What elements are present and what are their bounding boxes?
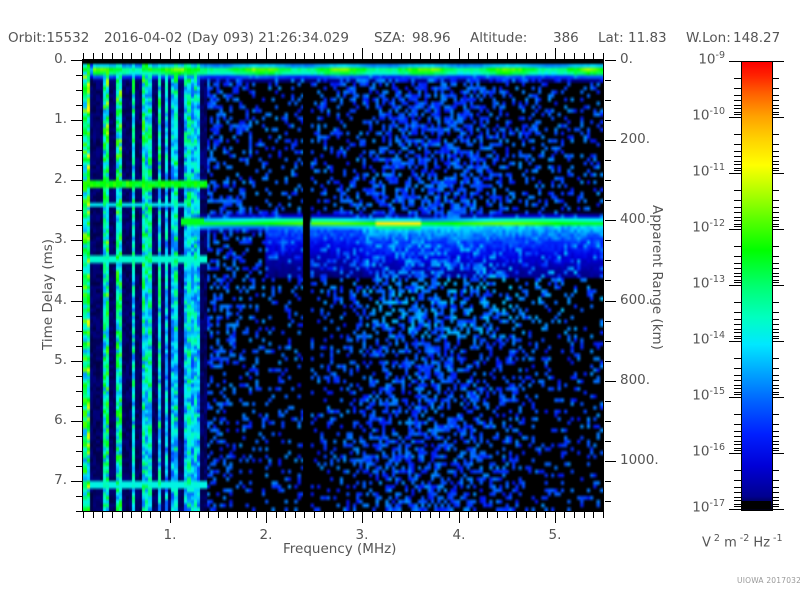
colorbar-minor-tick-left <box>734 256 741 257</box>
y-major-tick <box>71 180 82 181</box>
y-tick-label: 4. <box>54 292 67 308</box>
header-wlon-value: 148.27 <box>733 30 780 46</box>
colorbar-minor-tick-right <box>772 414 779 415</box>
colorbar-minor-tick-right <box>772 336 779 337</box>
x-major-tick-top <box>459 48 460 59</box>
y-tick-label: 0. <box>54 51 67 67</box>
x-minor-tick <box>526 512 527 518</box>
y2-minor-tick <box>605 481 611 482</box>
x-minor-tick <box>420 512 421 518</box>
colorbar-minor-tick-left <box>734 263 741 264</box>
colorbar-minor-tick-left <box>734 200 741 201</box>
colorbar-minor-tick-left <box>734 114 741 115</box>
y2-tick-label: 800. <box>620 372 650 388</box>
colorbar-minor-tick-left <box>734 375 741 376</box>
colorbar-minor-tick-left <box>734 112 741 113</box>
x-tick-label: 5. <box>549 527 562 543</box>
colorbar-minor-tick-right <box>772 368 779 369</box>
y2-major-tick <box>605 220 616 221</box>
colorbar-minor-tick-left <box>734 78 741 79</box>
colorbar-minor-tick-left <box>734 431 741 432</box>
x-minor-tick <box>401 512 402 518</box>
colorbar-minor-tick-right <box>772 380 779 381</box>
colorbar-minor-tick-right <box>772 500 779 501</box>
x-minor-tick <box>102 512 103 518</box>
x-minor-tick <box>218 512 219 518</box>
y2-major-tick <box>605 301 616 302</box>
x-minor-tick <box>179 512 180 518</box>
x-minor-tick <box>536 512 537 518</box>
colorbar-minor-tick-right <box>772 375 779 376</box>
colorbar-minor-tick-left <box>734 392 741 393</box>
y2-minor-tick <box>605 501 611 502</box>
colorbar-minor-tick-left <box>734 380 741 381</box>
colorbar-minor-tick-left <box>734 394 741 395</box>
y2-major-tick <box>605 140 616 141</box>
x-major-tick-top <box>555 48 556 59</box>
colorbar-minor-tick-left <box>734 276 741 277</box>
x-tick-label: 2. <box>260 527 273 543</box>
colorbar-minor-tick-left <box>734 448 741 449</box>
colorbar-minor-tick-right <box>772 448 779 449</box>
x-minor-tick <box>468 512 469 518</box>
colorbar-minor-tick-right <box>772 394 779 395</box>
colorbar-minor-tick-right <box>772 444 779 445</box>
colorbar-minor-tick-right <box>772 480 779 481</box>
colorbar-minor-tick-right <box>772 134 779 135</box>
header-sza-label: SZA: <box>374 30 405 46</box>
colorbar-minor-tick-left <box>734 504 741 505</box>
y-tick-label: 5. <box>54 352 67 368</box>
x-minor-tick <box>189 512 190 518</box>
colorbar-minor-tick-left <box>734 368 741 369</box>
y2-tick-label: 600. <box>620 292 650 308</box>
y2-tick-label: 400. <box>620 211 650 227</box>
x-minor-tick <box>545 512 546 518</box>
colorbar-minor-tick-left <box>734 224 741 225</box>
colorbar-minor-tick-right <box>772 358 779 359</box>
colorbar-minor-tick-right <box>772 506 779 507</box>
colorbar-minor-tick-left <box>734 500 741 501</box>
colorbar-minor-tick-right <box>772 114 779 115</box>
colorbar-minor-tick-left <box>734 332 741 333</box>
radargram-heatmap <box>83 60 603 511</box>
colorbar-minor-tick-right <box>772 112 779 113</box>
colorbar-minor-tick-right <box>772 226 779 227</box>
colorbar-minor-tick-right <box>772 312 779 313</box>
x-major-tick <box>266 512 267 523</box>
colorbar-minor-tick-right <box>772 190 779 191</box>
y2-major-tick <box>605 60 616 61</box>
header-orbit: Orbit:15532 <box>8 30 89 46</box>
colorbar-major-tick-left <box>729 173 741 174</box>
colorbar-minor-tick-left <box>734 168 741 169</box>
colorbar-minor-tick-left <box>734 88 741 89</box>
colorbar-minor-tick-left <box>734 100 741 101</box>
colorbar-major-tick-right <box>772 509 784 510</box>
colorbar-minor-tick-left <box>734 450 741 451</box>
header-lat-label: Lat: <box>598 30 624 46</box>
colorbar-minor-tick-right <box>772 497 779 498</box>
colorbar-minor-tick-left <box>734 470 741 471</box>
colorbar-minor-tick-right <box>772 504 779 505</box>
colorbar-minor-tick-right <box>772 492 779 493</box>
x-minor-tick <box>112 512 113 518</box>
y2-minor-tick <box>605 441 611 442</box>
colorbar-minor-tick-left <box>734 312 741 313</box>
colorbar-minor-tick-left <box>734 414 741 415</box>
y2-tick-label: 200. <box>620 131 650 147</box>
colorbar-minor-tick-left <box>734 151 741 152</box>
x-minor-tick <box>141 512 142 518</box>
y-tick-label: 2. <box>54 171 67 187</box>
y2-minor-tick <box>605 341 611 342</box>
x-tick-label: 4. <box>453 527 466 543</box>
colorbar-major-tick-right <box>772 285 784 286</box>
colorbar-major-tick-left <box>729 285 741 286</box>
x-minor-tick <box>497 512 498 518</box>
x-tick-label: 1. <box>164 527 177 543</box>
y2-minor-tick <box>605 120 611 121</box>
colorbar-minor-tick-right <box>772 268 779 269</box>
colorbar-minor-tick-left <box>734 358 741 359</box>
colorbar-minor-tick-right <box>772 168 779 169</box>
x-minor-tick <box>584 512 585 518</box>
colorbar-minor-tick-right <box>772 256 779 257</box>
colorbar-minor-tick-right <box>772 105 779 106</box>
x-minor-tick <box>410 512 411 518</box>
colorbar-minor-tick-right <box>772 392 779 393</box>
colorbar-minor-tick-right <box>772 164 779 165</box>
colorbar-minor-tick-left <box>734 480 741 481</box>
colorbar-minor-tick-right <box>772 329 779 330</box>
colorbar-minor-tick-left <box>734 444 741 445</box>
colorbar-minor-tick-left <box>734 134 741 135</box>
y-tick-label: 6. <box>54 412 67 428</box>
colorbar-minor-tick-left <box>734 282 741 283</box>
colorbar-minor-tick-left <box>734 217 741 218</box>
colorbar-minor-tick-right <box>772 450 779 451</box>
x-minor-tick <box>256 512 257 518</box>
x-minor-tick <box>199 512 200 518</box>
colorbar-minor-tick-right <box>772 441 779 442</box>
colorbar-minor-tick-right <box>772 212 779 213</box>
x-minor-tick <box>150 512 151 518</box>
colorbar-tick-label: 10-16 <box>692 442 725 460</box>
y-major-tick <box>71 421 82 422</box>
y2-major-tick <box>605 461 616 462</box>
colorbar-minor-tick-left <box>734 105 741 106</box>
colorbar-minor-tick-left <box>734 170 741 171</box>
x-minor-tick <box>564 512 565 518</box>
colorbar-minor-tick-right <box>772 431 779 432</box>
x-minor-tick <box>353 512 354 518</box>
colorbar-minor-tick-left <box>734 95 741 96</box>
colorbar-major-tick-right <box>772 117 784 118</box>
x-major-tick-top <box>266 48 267 59</box>
colorbar-minor-tick-left <box>734 164 741 165</box>
y2-minor-tick <box>605 280 611 281</box>
y2-minor-tick <box>605 160 611 161</box>
colorbar-major-tick-right <box>772 61 784 62</box>
x-major-tick <box>362 512 363 523</box>
colorbar-minor-tick-left <box>734 329 741 330</box>
colorbar-minor-tick-left <box>734 441 741 442</box>
colorbar-minor-tick-left <box>734 436 741 437</box>
colorbar-min-cap <box>742 501 771 509</box>
colorbar-minor-tick-right <box>772 200 779 201</box>
x-minor-tick <box>449 512 450 518</box>
colorbar-minor-tick-right <box>772 217 779 218</box>
y2-minor-tick <box>605 100 611 101</box>
colorbar-minor-tick-right <box>772 487 779 488</box>
colorbar-minor-tick-left <box>734 385 741 386</box>
colorbar-minor-tick-right <box>772 263 779 264</box>
colorbar-minor-tick-right <box>772 470 779 471</box>
y-major-tick <box>71 481 82 482</box>
colorbar-minor-tick-right <box>772 385 779 386</box>
x-minor-tick <box>372 512 373 518</box>
x-minor-tick <box>333 512 334 518</box>
colorbar-minor-tick-left <box>734 497 741 498</box>
colorbar-tick-label: 10-12 <box>692 218 725 236</box>
colorbar-major-tick-left <box>729 453 741 454</box>
y2-axis-title-apparent-range: Apparent Range (km) <box>649 205 665 350</box>
colorbar-minor-tick-right <box>772 436 779 437</box>
colorbar-minor-tick-left <box>734 156 741 157</box>
x-minor-tick <box>227 512 228 518</box>
x-minor-tick <box>276 512 277 518</box>
x-minor-tick <box>507 512 508 518</box>
colorbar-tick-label: 10-13 <box>692 274 725 292</box>
x-minor-tick <box>83 512 84 518</box>
colorbar-major-tick-left <box>729 61 741 62</box>
y2-tick-label: 1000. <box>620 452 659 468</box>
y-tick-label: 7. <box>54 472 67 488</box>
colorbar-minor-tick-left <box>734 336 741 337</box>
colorbar-minor-tick-left <box>734 273 741 274</box>
colorbar-minor-tick-left <box>734 324 741 325</box>
x-minor-tick <box>131 512 132 518</box>
colorbar-major-tick-right <box>772 229 784 230</box>
y-major-tick <box>71 361 82 362</box>
colorbar-minor-tick-right <box>772 156 779 157</box>
colorbar-minor-tick-right <box>772 324 779 325</box>
x-minor-tick <box>478 512 479 518</box>
y-major-tick <box>71 60 82 61</box>
header-datetime: 2016-04-02 (Day 093) 21:26:34.029 <box>104 30 349 46</box>
x-major-tick-top <box>170 48 171 59</box>
colorbar-minor-tick-left <box>734 212 741 213</box>
colorbar-minor-tick-left <box>734 226 741 227</box>
x-minor-tick <box>603 512 604 518</box>
colorbar-minor-tick-right <box>772 170 779 171</box>
institution-watermark: UIOWA 20170322 <box>737 576 800 585</box>
colorbar-minor-tick-right <box>772 108 779 109</box>
x-minor-tick <box>160 512 161 518</box>
colorbar-minor-tick-right <box>772 282 779 283</box>
header-altitude-label: Altitude: <box>470 30 527 46</box>
x-minor-tick <box>324 512 325 518</box>
y-tick-label: 3. <box>54 231 67 247</box>
y-major-tick <box>71 240 82 241</box>
colorbar-minor-tick-right <box>772 276 779 277</box>
x-minor-tick <box>237 512 238 518</box>
colorbar-minor-tick-left <box>734 161 741 162</box>
x-minor-tick <box>439 512 440 518</box>
colorbar-minor-tick-left <box>734 302 741 303</box>
x-minor-tick <box>314 512 315 518</box>
colorbar-major-tick-right <box>772 341 784 342</box>
x-major-tick <box>170 512 171 523</box>
header-altitude-value: 386 <box>553 30 579 46</box>
colorbar-minor-tick-right <box>772 319 779 320</box>
colorbar-minor-tick-left <box>734 220 741 221</box>
x-minor-tick <box>295 512 296 518</box>
ionogram-figure: Orbit:15532 2016-04-02 (Day 093) 21:26:3… <box>0 0 800 600</box>
x-minor-tick <box>574 512 575 518</box>
colorbar-major-tick-left <box>729 509 741 510</box>
colorbar-minor-tick-left <box>734 190 741 191</box>
y2-minor-tick <box>605 180 611 181</box>
colorbar-tick-label: 10-14 <box>692 330 725 348</box>
colorbar-major-tick-left <box>729 229 741 230</box>
colorbar-minor-tick-right <box>772 280 779 281</box>
x-minor-tick <box>285 512 286 518</box>
colorbar-minor-tick-left <box>734 319 741 320</box>
colorbar-minor-tick-left <box>734 388 741 389</box>
colorbar-minor-tick-left <box>734 506 741 507</box>
colorbar-major-tick-left <box>729 397 741 398</box>
y-major-tick <box>71 120 82 121</box>
y2-minor-tick <box>605 421 611 422</box>
y-major-tick <box>71 301 82 302</box>
x-minor-tick <box>430 512 431 518</box>
colorbar-major-tick-right <box>772 397 784 398</box>
colorbar-minor-tick-left <box>734 487 741 488</box>
colorbar-minor-tick-right <box>772 338 779 339</box>
x-major-tick-top <box>362 48 363 59</box>
colorbar-minor-tick-right <box>772 224 779 225</box>
colorbar-minor-tick-left <box>734 207 741 208</box>
x-minor-tick <box>93 512 94 518</box>
y2-minor-tick <box>605 240 611 241</box>
colorbar-minor-tick-left <box>734 280 741 281</box>
x-minor-tick <box>593 512 594 518</box>
x-minor-tick <box>382 512 383 518</box>
colorbar <box>741 61 773 511</box>
x-major-tick <box>555 512 556 523</box>
colorbar-minor-tick-right <box>772 207 779 208</box>
colorbar-minor-tick-right <box>772 161 779 162</box>
x-minor-tick <box>487 512 488 518</box>
colorbar-minor-tick-right <box>772 424 779 425</box>
colorbar-minor-tick-right <box>772 220 779 221</box>
colorbar-minor-tick-left <box>734 108 741 109</box>
colorbar-tick-label: 10-17 <box>692 498 725 516</box>
header-lat-value: 11.83 <box>628 30 667 46</box>
colorbar-tick-label: 10-9 <box>698 50 725 68</box>
colorbar-minor-tick-right <box>772 273 779 274</box>
colorbar-tick-label: 10-10 <box>692 106 725 124</box>
colorbar-minor-tick-left <box>734 268 741 269</box>
y2-minor-tick <box>605 80 611 81</box>
colorbar-minor-tick-right <box>772 302 779 303</box>
x-minor-tick <box>247 512 248 518</box>
y2-minor-tick <box>605 321 611 322</box>
y-axis-title-time-delay: Time Delay (ms) <box>40 239 56 350</box>
x-axis-title-frequency: Frequency (MHz) <box>283 541 396 557</box>
colorbar-minor-tick-left <box>734 492 741 493</box>
colorbar-minor-tick-right <box>772 388 779 389</box>
x-major-tick <box>459 512 460 523</box>
colorbar-units-label: V 2 m -2 Hz -1 <box>702 533 783 550</box>
radargram-canvas-wrapper <box>83 60 603 511</box>
x-minor-tick <box>122 512 123 518</box>
colorbar-minor-tick-right <box>772 332 779 333</box>
y2-major-tick <box>605 381 616 382</box>
x-minor-tick <box>391 512 392 518</box>
x-minor-tick <box>208 512 209 518</box>
radargram-plot-area <box>82 59 604 512</box>
x-minor-tick <box>304 512 305 518</box>
header-metadata: Orbit:15532 2016-04-02 (Day 093) 21:26:3… <box>0 30 800 48</box>
colorbar-minor-tick-right <box>772 144 779 145</box>
y2-minor-tick <box>605 200 611 201</box>
colorbar-major-tick-left <box>729 341 741 342</box>
colorbar-minor-tick-right <box>772 151 779 152</box>
y2-minor-tick <box>605 260 611 261</box>
colorbar-minor-tick-left <box>734 246 741 247</box>
colorbar-minor-tick-right <box>772 246 779 247</box>
y2-tick-label: 0. <box>620 51 633 67</box>
header-wlon-label: W.Lon: <box>686 30 731 46</box>
x-minor-tick <box>516 512 517 518</box>
colorbar-major-tick-right <box>772 173 784 174</box>
y-tick-label: 1. <box>54 111 67 127</box>
y2-minor-tick <box>605 401 611 402</box>
colorbar-minor-tick-left <box>734 338 741 339</box>
colorbar-minor-tick-right <box>772 88 779 89</box>
colorbar-minor-tick-left <box>734 424 741 425</box>
colorbar-minor-tick-left <box>734 144 741 145</box>
colorbar-tick-label: 10-15 <box>692 386 725 404</box>
y2-minor-tick <box>605 361 611 362</box>
colorbar-minor-tick-right <box>772 95 779 96</box>
colorbar-minor-tick-right <box>772 100 779 101</box>
colorbar-tick-label: 10-11 <box>692 162 725 180</box>
header-sza-value: 98.96 <box>412 30 451 46</box>
colorbar-major-tick-left <box>729 117 741 118</box>
x-minor-tick <box>343 512 344 518</box>
colorbar-minor-tick-right <box>772 78 779 79</box>
colorbar-major-tick-right <box>772 453 784 454</box>
